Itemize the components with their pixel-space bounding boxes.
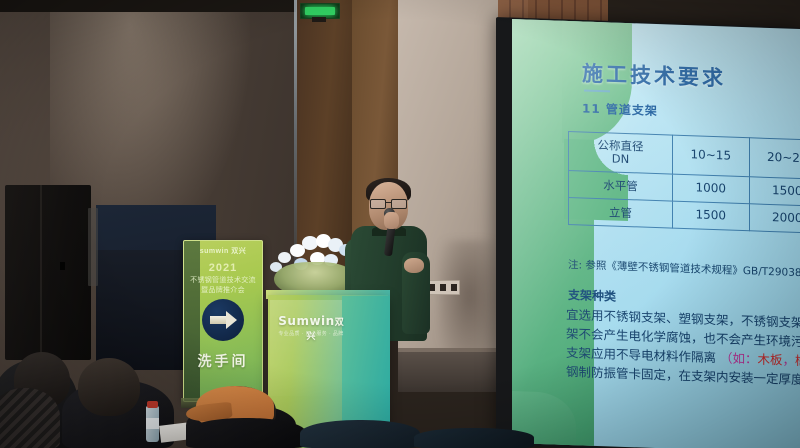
table-cell: 10~15 bbox=[673, 135, 749, 177]
podium-brand-latin: Sumwin bbox=[278, 314, 334, 328]
slide-section-heading: 支架种类 bbox=[568, 286, 616, 305]
body-highlight-term-2: 橡 bbox=[795, 353, 800, 368]
pipe-support-spacing-table: 公称直径 DN 10~15 20~25 水平管 1000 1500 立管 150… bbox=[568, 131, 800, 234]
slide-body-text: 宜选用不锈钢支架、塑钢支架，不锈钢支架 架不会产生电化学腐蚀，也不会产生环境污 … bbox=[566, 305, 800, 390]
water-bottle-cap bbox=[147, 401, 158, 408]
directional-standee: sumwin 双兴 2021 不锈钢管道技术交流 暨品牌推介会 洗手间 bbox=[183, 240, 263, 402]
wall-outlet-panel bbox=[426, 280, 460, 295]
table-header-cell: 公称直径 DN bbox=[569, 131, 673, 174]
audience-row-foreground bbox=[414, 428, 534, 448]
table-cell: 2000 bbox=[749, 204, 800, 233]
glasses-lens bbox=[370, 199, 386, 209]
pa-speaker-seam bbox=[40, 185, 42, 360]
arrow-right-icon bbox=[202, 299, 244, 341]
water-bottle-label bbox=[146, 418, 159, 429]
podium-tagline: 专业品质 · 用心服务 · 品牌 bbox=[278, 330, 344, 337]
outlet-socket bbox=[429, 284, 435, 291]
table-row-label: 水平管 bbox=[569, 171, 673, 201]
podium-brand-logo: Sumwin双兴 bbox=[278, 314, 344, 342]
table-row-label: 立管 bbox=[569, 198, 673, 228]
body-highlight-comma: ， bbox=[783, 352, 796, 367]
glasses-icon bbox=[370, 199, 407, 207]
speaker-hand-holding-mic bbox=[384, 212, 399, 229]
audience-row-foreground bbox=[300, 420, 420, 448]
table-cell: 20~25 bbox=[749, 138, 800, 180]
outlet-socket bbox=[440, 284, 446, 291]
audience-member-patterned-jacket bbox=[0, 388, 60, 448]
slide-content: 施工技术要求 11 管道支架 公称直径 DN 10~15 20~25 水平管 1… bbox=[512, 19, 800, 448]
slide-title: 施工技术要求 bbox=[582, 57, 726, 92]
ceiling-edge bbox=[0, 0, 300, 12]
speaker-right-hand bbox=[404, 258, 424, 273]
standee-event-line1: 不锈钢管道技术交流 bbox=[184, 275, 262, 285]
table-cell: 1500 bbox=[749, 177, 800, 206]
pa-speaker-side-panel bbox=[88, 208, 98, 286]
exit-sign-mount bbox=[312, 17, 326, 22]
standee-direction-label: 洗手间 bbox=[184, 351, 262, 371]
projection-screen: 施工技术要求 11 管道支架 公称直径 DN 10~15 20~25 水平管 1… bbox=[512, 19, 800, 448]
outlet-socket bbox=[451, 284, 457, 291]
exit-sign-glow bbox=[305, 7, 335, 15]
conference-photo-scene: 施工技术要求 11 管道支架 公称直径 DN 10~15 20~25 水平管 1… bbox=[0, 0, 800, 448]
table-header-line2: DN bbox=[612, 152, 629, 167]
slide-note: 注: 参照《薄壁不锈钢管道技术规程》GB/T29038 bbox=[568, 257, 800, 281]
standee-year: 2021 bbox=[184, 262, 262, 274]
flower bbox=[278, 252, 291, 263]
standee-event-line2: 暨品牌推介会 bbox=[184, 285, 262, 295]
standee-logo: sumwin 双兴 bbox=[184, 246, 262, 256]
audience-member-head bbox=[78, 358, 140, 416]
audience-member-shoulders bbox=[186, 418, 306, 448]
table-cell: 1000 bbox=[673, 175, 749, 204]
slide-section-number: 11 管道支架 bbox=[582, 99, 658, 119]
table-cell: 1500 bbox=[673, 201, 749, 230]
pa-speaker-cabinet bbox=[5, 185, 91, 360]
body-highlight-term-1: 木板 bbox=[758, 352, 783, 368]
glasses-lens bbox=[391, 199, 407, 209]
body-highlight-paren: （如： bbox=[720, 350, 758, 366]
slide-title-rule bbox=[584, 90, 610, 93]
pa-speaker-port bbox=[60, 262, 65, 270]
